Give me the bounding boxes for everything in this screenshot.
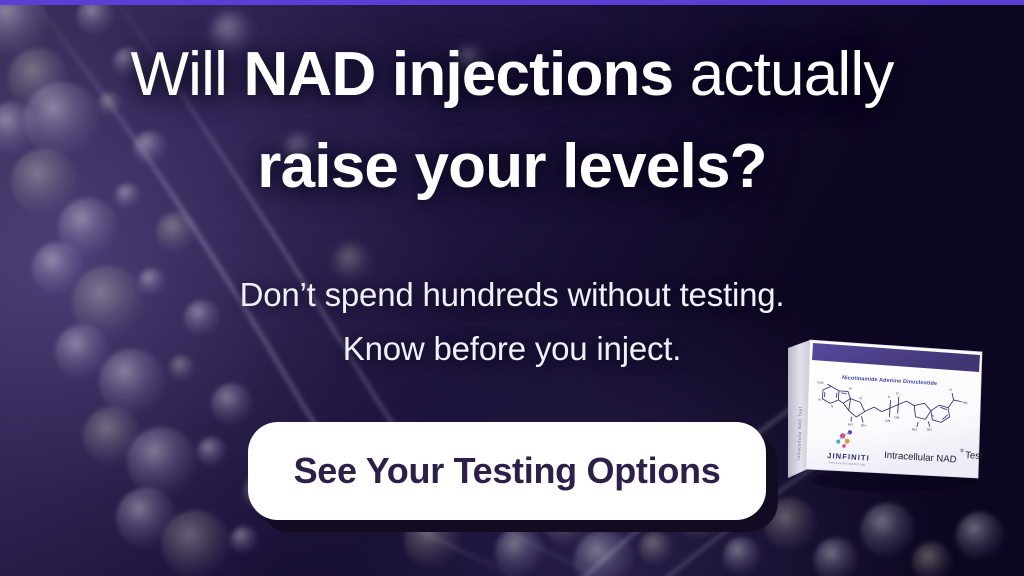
subheading-line-1: Don’t spend hundreds without testing. [0, 278, 1024, 311]
svg-text:HO: HO [912, 428, 918, 432]
promo-banner: Will NAD injections actually raise your … [0, 0, 1024, 576]
banner-content: Will NAD injections actually raise your … [0, 0, 1024, 576]
page-title-line-2: raise your levels? [0, 136, 1024, 198]
svg-text:OH: OH [885, 419, 891, 423]
svg-text:OH: OH [894, 415, 900, 419]
svg-text:OH: OH [861, 423, 867, 427]
top-accent-bar [0, 0, 1024, 5]
headline-emphasis: NAD injections [244, 40, 674, 109]
svg-text:OH: OH [927, 427, 933, 431]
svg-text:H₂N: H₂N [817, 381, 824, 385]
headline-suffix: actually [673, 40, 893, 109]
product-name-suffix: Test [965, 450, 984, 462]
svg-text:NH₂: NH₂ [962, 401, 969, 405]
see-testing-options-button[interactable]: See Your Testing Options [248, 422, 766, 520]
headline-prefix: Will [130, 40, 243, 109]
product-box-image: Nicotinamide Adenine Dinucleotide [782, 328, 994, 496]
page-title-line-1: Will NAD injections actually [0, 44, 1024, 106]
svg-text:HO: HO [848, 423, 854, 427]
